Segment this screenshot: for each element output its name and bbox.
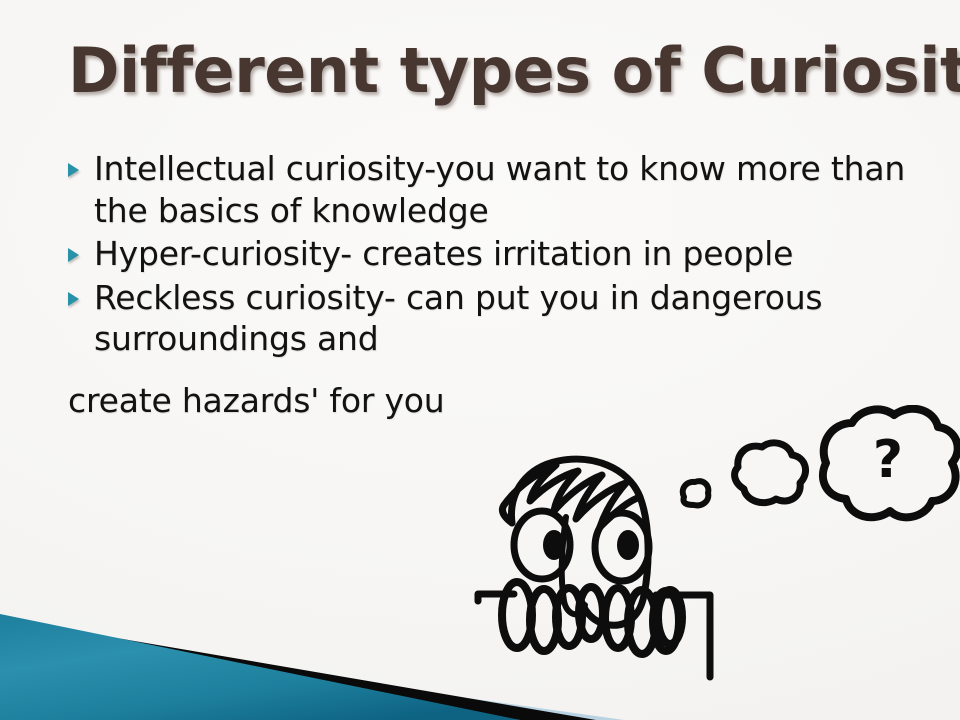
triangle-bullet-icon xyxy=(68,233,94,262)
left-eye-shape xyxy=(514,511,570,579)
list-item: Intellectual curiosity-you want to know … xyxy=(68,148,928,231)
list-item-label: Hyper-curiosity- creates irritation in p… xyxy=(94,233,928,275)
small-puff-2-shape xyxy=(735,443,806,503)
slide-canvas: Different types of Curiosity Intellectua… xyxy=(0,0,960,720)
list-item: Reckless curiosity- can put you in dange… xyxy=(68,277,928,360)
list-item: Hyper-curiosity- creates irritation in p… xyxy=(68,233,928,275)
triangle-bullet-icon xyxy=(68,148,94,177)
small-puff-1-shape xyxy=(683,481,709,505)
page-title: Different types of Curiosity xyxy=(68,38,908,103)
question-mark-label: ? xyxy=(873,430,903,490)
triangle-bullet-icon xyxy=(68,277,94,306)
angles-corner-banner xyxy=(0,580,960,720)
list-item-label: Reckless curiosity- can put you in dange… xyxy=(94,277,928,360)
body-content: Intellectual curiosity-you want to know … xyxy=(68,148,928,421)
right-eye-shape xyxy=(595,513,649,581)
list-item-label: Intellectual curiosity-you want to know … xyxy=(94,148,928,231)
